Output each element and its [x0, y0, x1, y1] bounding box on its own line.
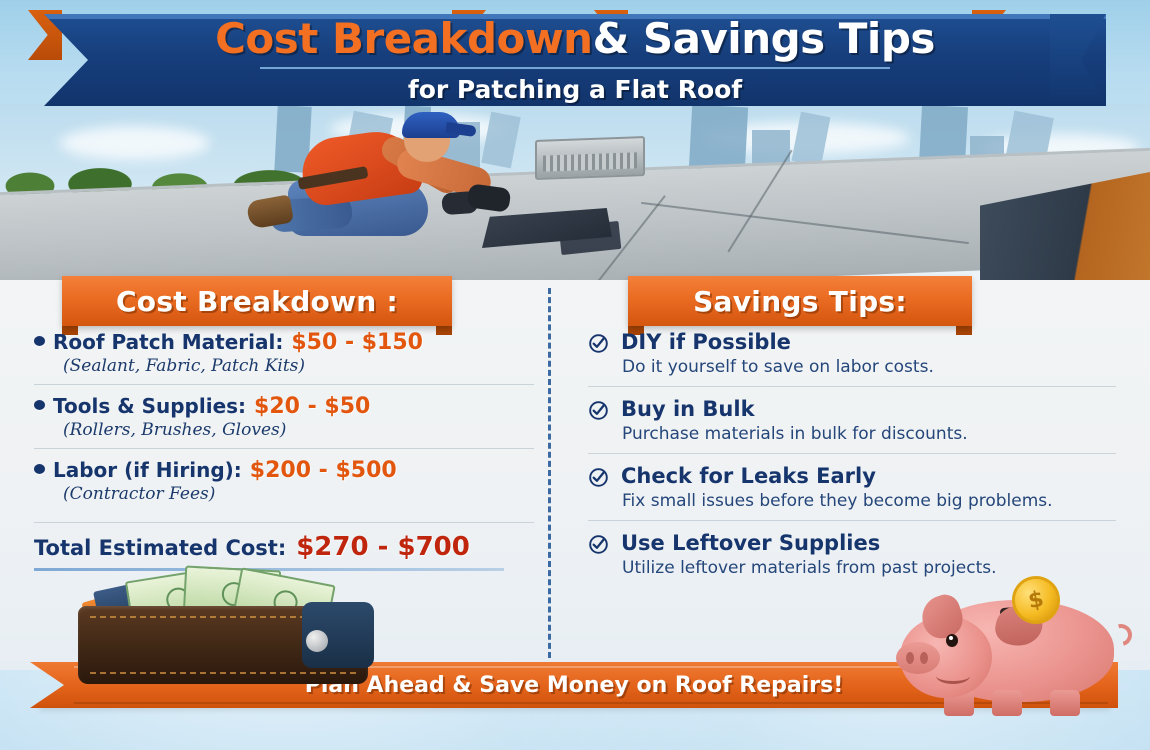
piggy-leg: [1050, 690, 1080, 716]
cost-item-label: Roof Patch Material:: [53, 330, 283, 354]
cost-item-label: Tools & Supplies:: [53, 394, 246, 418]
wallet-stitching: [90, 672, 356, 674]
bullet-icon: [34, 464, 45, 474]
tip-headline: DIY if Possible: [588, 330, 1116, 354]
tip-description: Do it yourself to save on labor costs.: [622, 357, 1116, 377]
tip-list-item: Buy in Bulk Purchase materials in bulk f…: [588, 386, 1116, 453]
check-circle-icon: [588, 400, 609, 421]
cost-item-headline: Roof Patch Material: $50 - $150: [34, 330, 534, 355]
hero-photo: [0, 104, 1150, 280]
check-circle-icon: [588, 467, 609, 488]
check-circle-icon: [588, 534, 609, 555]
tip-list-item: Check for Leaks Early Fix small issues b…: [588, 453, 1116, 520]
total-amount: $270 - $700: [296, 532, 470, 562]
check-circle-icon: [588, 333, 609, 354]
cloud-icon: [60, 126, 210, 160]
column-divider: [548, 288, 551, 658]
tip-description: Fix small issues before they become big …: [622, 491, 1116, 511]
piggy-bank-icon: $: [900, 572, 1138, 722]
tip-headline: Check for Leaks Early: [588, 464, 1116, 488]
roofer-worker: [246, 112, 516, 262]
bullet-icon: [34, 336, 45, 346]
title-banner-content: Cost Breakdown& Savings Tips for Patchin…: [44, 14, 1106, 106]
cost-item-amount: $20 - $50: [254, 394, 370, 419]
cost-item-detail: (Contractor Fees): [63, 484, 534, 504]
tip-headline: Use Leftover Supplies: [588, 531, 1116, 555]
wallet-snap-button: [306, 630, 328, 652]
cost-item-headline: Labor (if Hiring): $200 - $500: [34, 458, 534, 483]
piggy-eye: [946, 634, 958, 647]
tip-description: Purchase materials in bulk for discounts…: [622, 424, 1116, 444]
cost-list-item: Tools & Supplies: $20 - $50 (Rollers, Br…: [34, 384, 534, 448]
savings-tips-list: DIY if Possible Do it yourself to save o…: [588, 330, 1116, 587]
savings-tips-heading: Savings Tips:: [693, 285, 907, 318]
cost-item-detail: (Rollers, Brushes, Gloves): [63, 420, 534, 440]
roof-vent: [535, 136, 645, 180]
worker-cap: [402, 112, 460, 138]
cost-breakdown-heading: Cost Breakdown :: [116, 285, 398, 318]
tip-list-item: DIY if Possible Do it yourself to save o…: [588, 330, 1116, 386]
bullet-icon: [34, 400, 45, 410]
total-label: Total Estimated Cost:: [34, 536, 286, 560]
tip-title: DIY if Possible: [621, 330, 791, 354]
page-title-primary: Cost Breakdown: [215, 14, 592, 63]
cost-item-amount: $50 - $150: [291, 330, 423, 355]
wallet-with-money-icon: [78, 566, 368, 684]
cost-item-amount: $200 - $500: [250, 458, 397, 483]
cost-item-label: Labor (if Hiring):: [53, 458, 242, 482]
title-divider-rule: [260, 67, 890, 69]
savings-tips-header-ribbon: Savings Tips:: [628, 276, 972, 326]
piggy-leg: [992, 690, 1022, 716]
cost-item-headline: Tools & Supplies: $20 - $50: [34, 394, 534, 419]
infographic-poster: Cost Breakdown& Savings Tips for Patchin…: [0, 0, 1150, 750]
footer-cta-text: Plan Ahead & Save Money on Roof Repairs!: [305, 673, 844, 698]
page-subtitle: for Patching a Flat Roof: [408, 75, 742, 104]
page-title: Cost Breakdown& Savings Tips: [215, 18, 935, 60]
cost-breakdown-header-ribbon: Cost Breakdown :: [62, 276, 452, 326]
page-title-secondary: & Savings Tips: [593, 14, 935, 63]
cost-item-detail: (Sealant, Fabric, Patch Kits): [63, 356, 534, 376]
tip-title: Use Leftover Supplies: [621, 531, 880, 555]
cost-list-item: Labor (if Hiring): $200 - $500 (Contract…: [34, 448, 534, 512]
cost-breakdown-list: Roof Patch Material: $50 - $150 (Sealant…: [34, 330, 534, 571]
total-estimated-cost-row: Total Estimated Cost: $270 - $700: [34, 522, 534, 562]
tip-headline: Buy in Bulk: [588, 397, 1116, 421]
cost-list-item: Roof Patch Material: $50 - $150 (Sealant…: [34, 330, 534, 384]
tip-title: Check for Leaks Early: [621, 464, 876, 488]
piggy-smile: [936, 668, 970, 684]
tip-title: Buy in Bulk: [621, 397, 755, 421]
piggy-snout: [896, 642, 940, 674]
